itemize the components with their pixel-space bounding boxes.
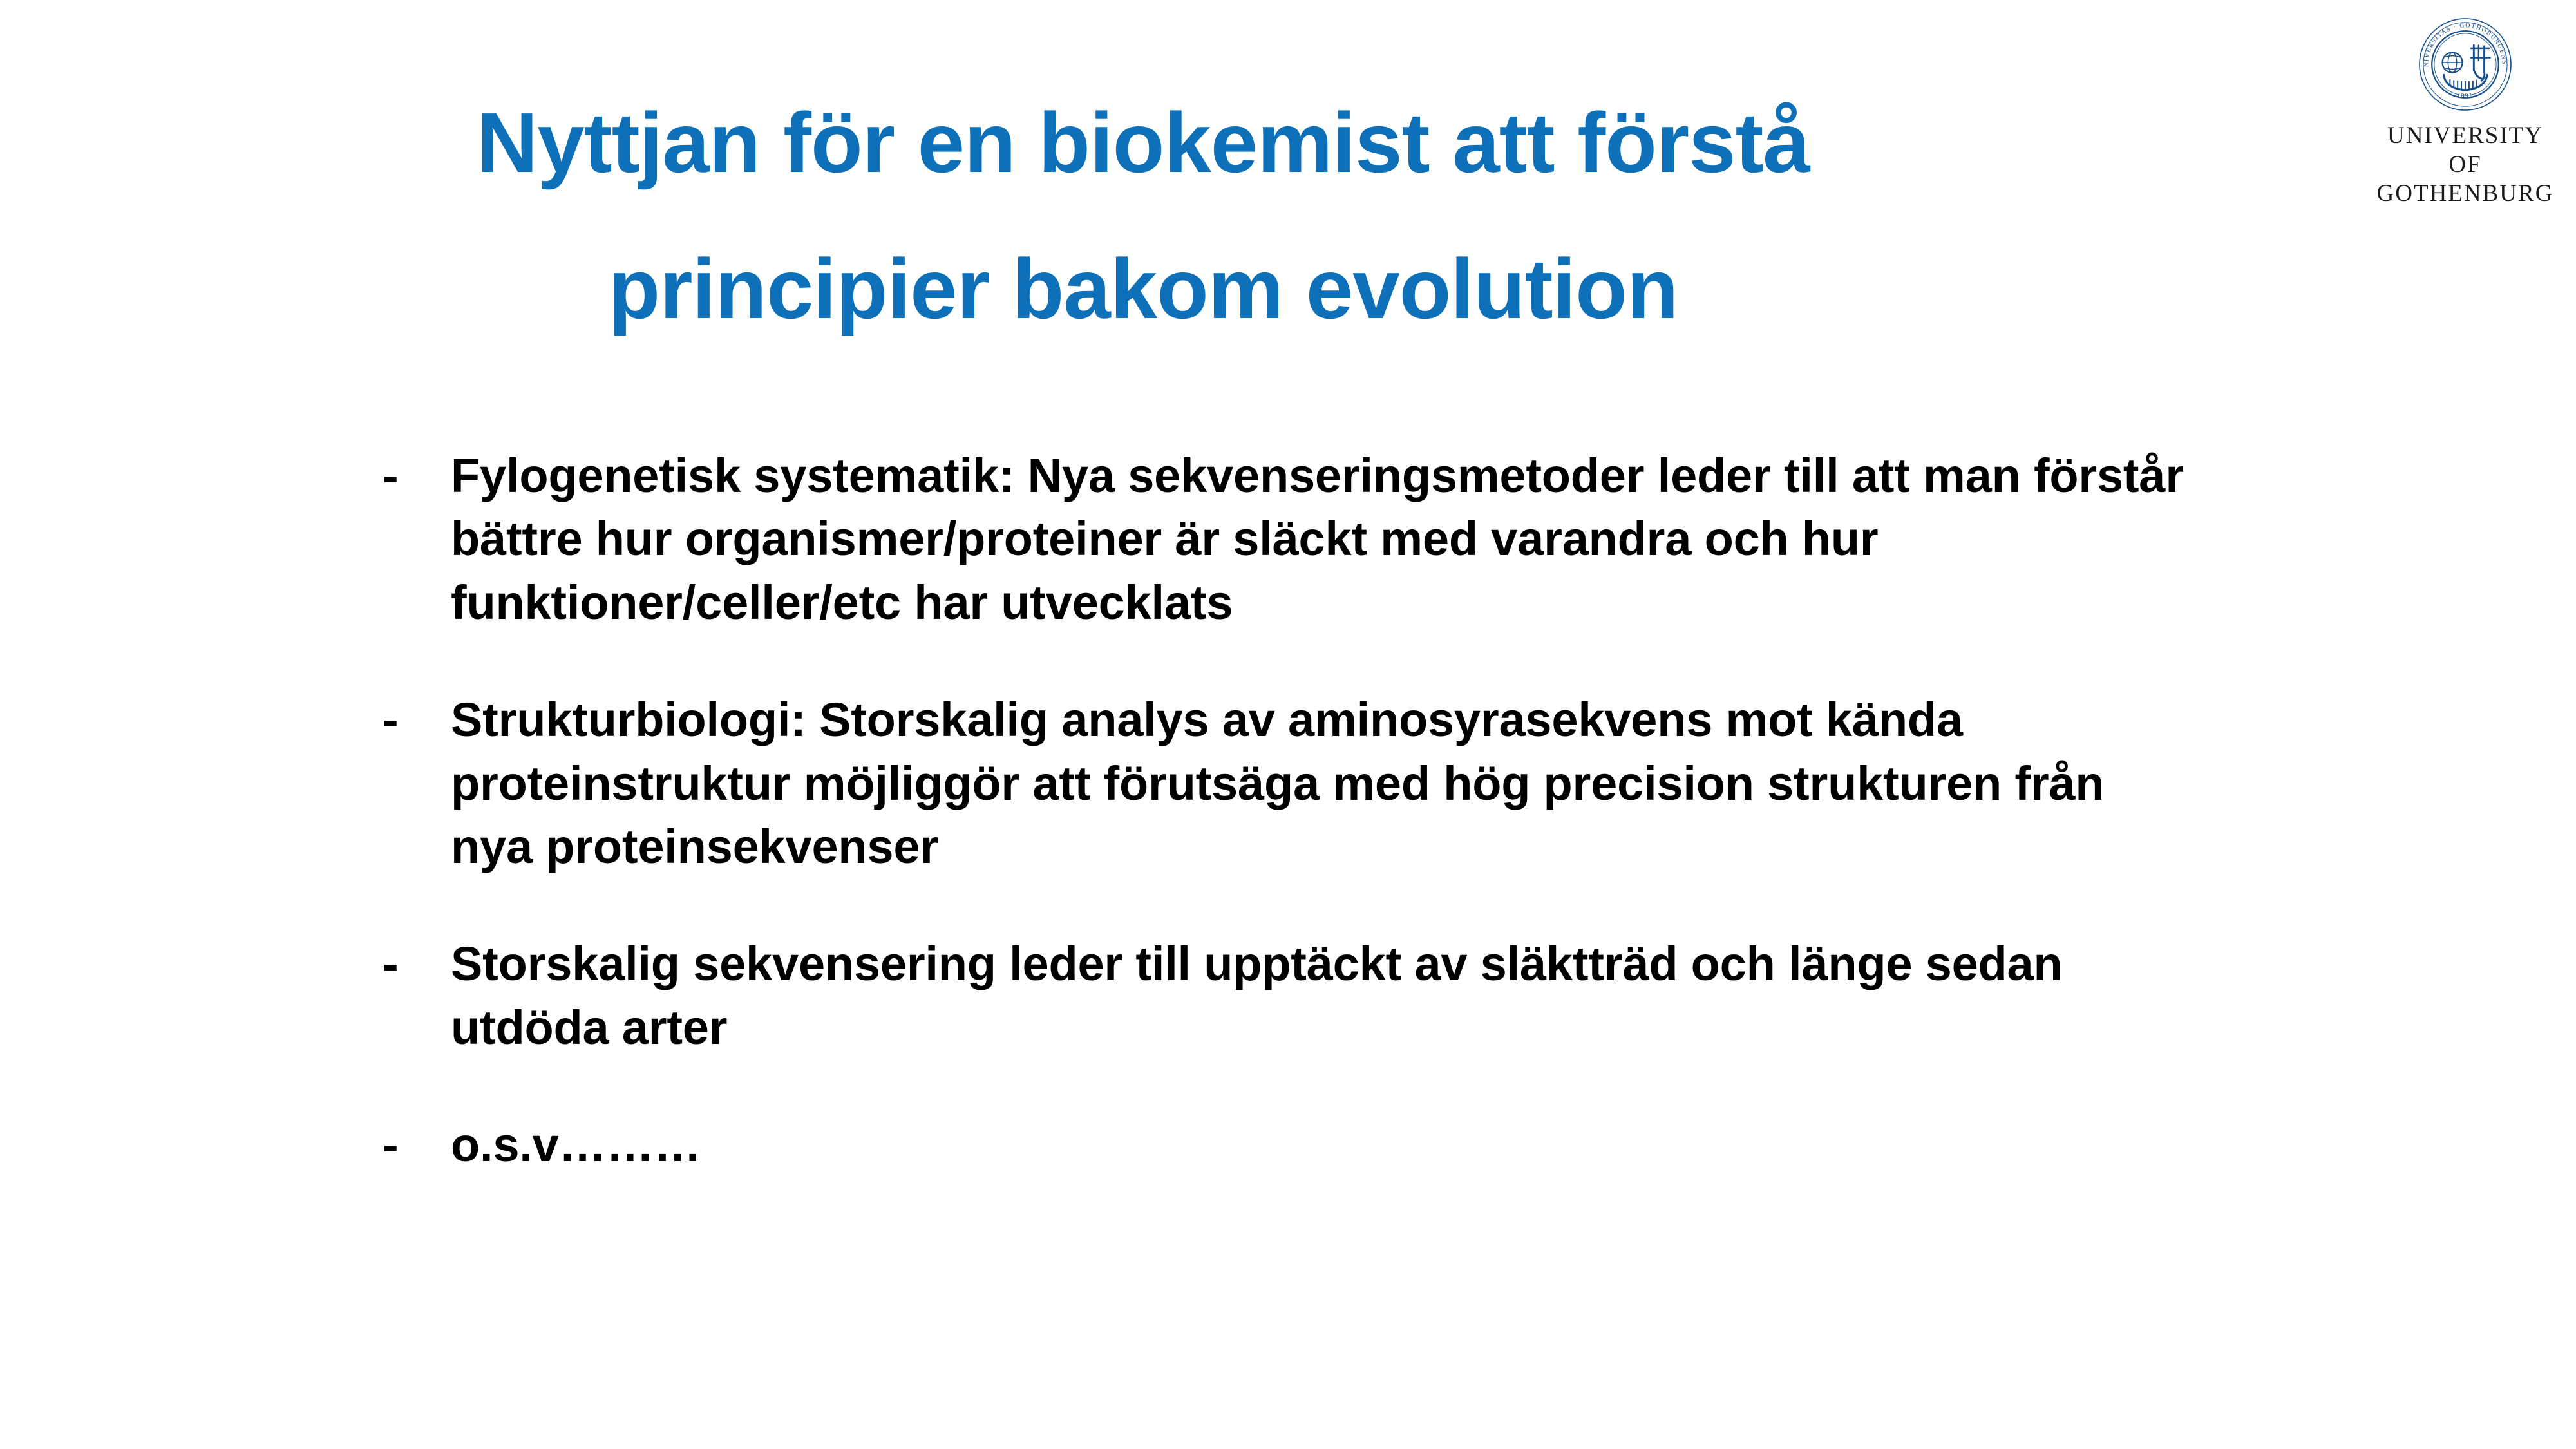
bullet-dash-icon: -	[383, 444, 451, 507]
list-item: - Strukturbiologi: Storskalig analys av …	[383, 688, 2315, 878]
bullet-dash-icon: -	[383, 933, 451, 996]
list-item-text: o.s.v………	[451, 1113, 2315, 1177]
page-title-line-2: principier bakom evolution	[0, 216, 2286, 362]
list-item-text: Fylogenetisk systematik: Nya sekvenserin…	[451, 444, 2228, 634]
svg-text:· 1891 ·: · 1891 ·	[2450, 90, 2481, 99]
university-wordmark: UNIVERSITY OF GOTHENBURG	[2369, 121, 2562, 208]
university-logo: UNIVERSITAS · GOTHOBURGENSIS · 1891 ·	[2369, 17, 2562, 208]
bullet-dash-icon: -	[383, 1113, 451, 1177]
bullet-list: - Fylogenetisk systematik: Nya sekvenser…	[383, 444, 2315, 1177]
list-item: - Fylogenetisk systematik: Nya sekvenser…	[383, 444, 2315, 634]
page-title: Nyttjan för en biokemist att förstå prin…	[0, 70, 2286, 362]
page-title-line-1: Nyttjan för en biokemist att förstå	[0, 70, 2286, 216]
list-item-text: Strukturbiologi: Storskalig analys av am…	[451, 688, 2138, 878]
list-item-text: Storskalig sekvensering leder till upptä…	[451, 933, 2125, 1059]
bullet-dash-icon: -	[383, 688, 451, 752]
gothenburg-seal-icon: UNIVERSITAS · GOTHOBURGENSIS · 1891 ·	[2418, 17, 2513, 112]
list-item: - o.s.v………	[383, 1113, 2315, 1177]
slide-canvas: Nyttjan för en biokemist att förstå prin…	[0, 0, 2576, 1449]
list-item: - Storskalig sekvensering leder till upp…	[383, 933, 2315, 1059]
